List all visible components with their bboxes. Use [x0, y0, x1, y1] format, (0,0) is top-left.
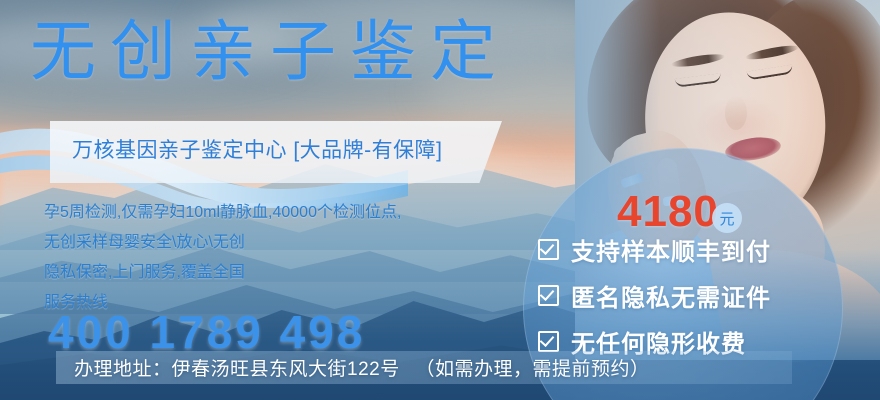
- price-amount: 4180: [617, 190, 719, 234]
- feature-list: 支持样本顺丰到付 匿名隐私无需证件 无任何隐形收费: [538, 232, 771, 370]
- list-item: 支持样本顺丰到付: [538, 232, 771, 266]
- feature-label: 支持样本顺丰到付: [571, 232, 771, 267]
- list-item: 匿名隐私无需证件: [538, 278, 771, 312]
- body-line: 孕5周检测,仅需孕妇10ml静脉血,40000个检测位点,: [44, 198, 401, 228]
- price-unit-badge: 元: [712, 203, 742, 233]
- brand-name: 万核基因亲子鉴定中心 [大品牌-有保障]: [72, 134, 443, 164]
- checkbox-check-icon: [538, 285, 559, 306]
- address-text: 办理地址：伊春汤旺县东风大街122号 （如需办理，需提前预约）: [74, 354, 649, 381]
- body-copy: 孕5周检测,仅需孕妇10ml静脉血,40000个检测位点, 无创采样母婴安全\放…: [44, 198, 401, 318]
- banner-advertisement: 无创亲子鉴定 万核基因亲子鉴定中心 [大品牌-有保障] 孕5周检测,仅需孕妇10…: [0, 0, 880, 400]
- feature-label: 匿名隐私无需证件: [571, 278, 771, 313]
- body-line: 隐私保密,上门服务,覆盖全国: [44, 258, 401, 288]
- body-line: 无创采样母婴安全\放心\无创: [44, 228, 401, 258]
- page-title: 无创亲子鉴定: [30, 18, 510, 84]
- checkbox-check-icon: [538, 239, 559, 260]
- checkbox-check-icon: [538, 331, 559, 352]
